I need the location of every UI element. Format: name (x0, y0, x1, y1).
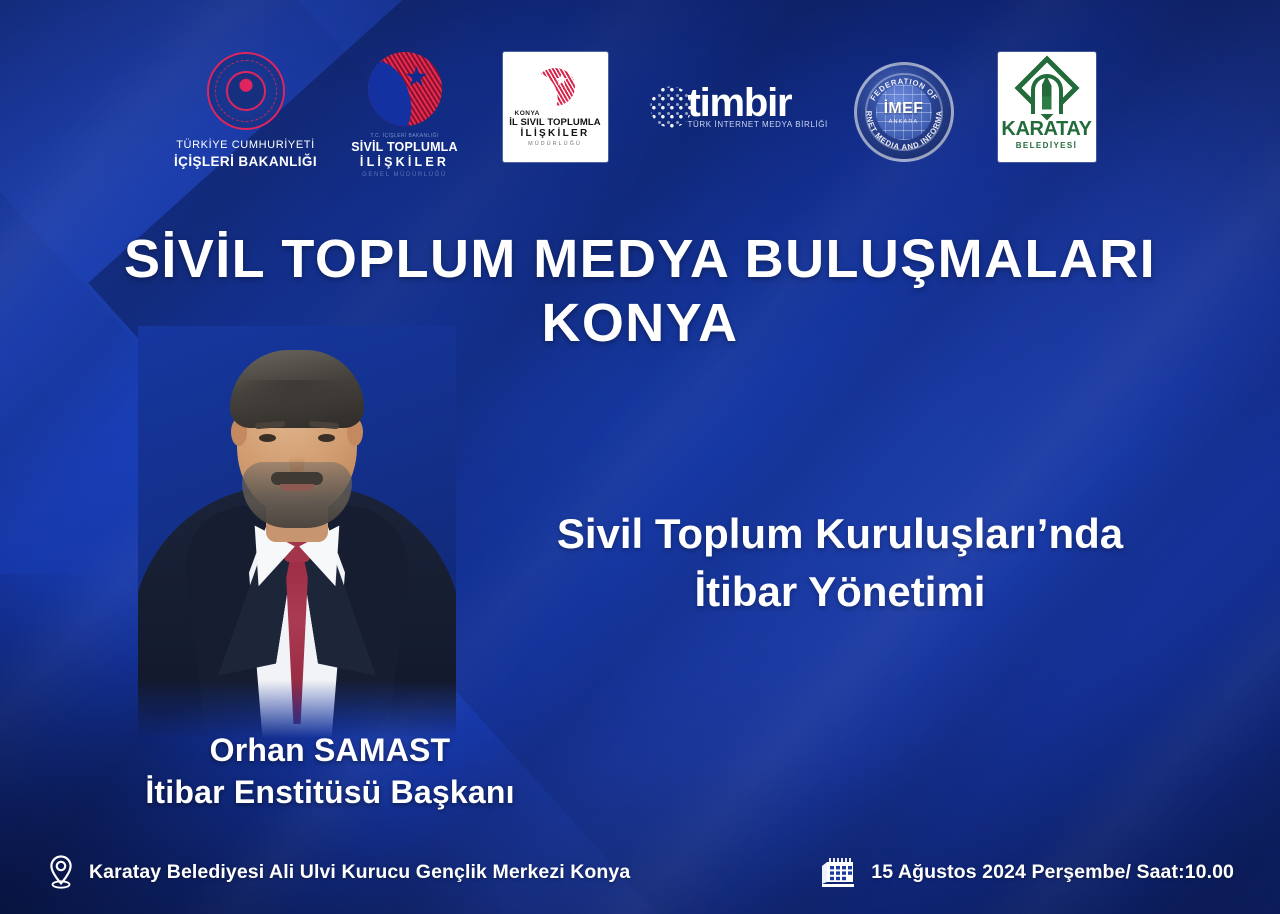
timbir-tagline: TÜRK İNTERNET MEDYA BİRLİĞİ (688, 120, 828, 129)
stk-logo-top-micro: T.C. İÇİŞLERİ BAKANLIĞI (370, 133, 438, 139)
poster-subtitle-line1: Sivil Toplum Kuruluşları’nda (470, 505, 1210, 563)
eye-left (259, 434, 276, 442)
poster-title-line1: SİVİL TOPLUM MEDYA BULUŞMALARI (0, 228, 1280, 292)
stk-logo-line3: GENEL MÜDÜRLÜĞÜ (362, 172, 447, 178)
imef-city: ANKARA (889, 119, 919, 125)
speaker-photo (138, 326, 456, 738)
date-text: 15 Ağustos 2024 Perşembe/ Saat:10.00 (871, 861, 1234, 884)
imef-globe-inner: İMEF ANKARA (876, 84, 932, 140)
konya-il-sivil-toplumla-iliskiler-logo: KONYA İL SIVIL TOPLUMLA İLİŞKİLER MÜDÜRL… (503, 52, 608, 162)
timbir-logo: timbir TÜRK İNTERNET MEDYA BİRLİĞİ (642, 52, 810, 136)
sponsor-logo-strip: TÜRKİYE CUMHURİYETİ İÇİŞLERİ BAKANLIĞI T… (0, 52, 1280, 178)
timbir-wordmark: timbir (688, 85, 828, 122)
konya-logo-line3: MÜDÜRLÜĞÜ (528, 141, 582, 147)
poster-title: SİVİL TOPLUM MEDYA BULUŞMALARI KONYA (0, 228, 1280, 355)
dotted-globe-icon (642, 78, 700, 136)
minaret-arch-emblem-icon (1018, 65, 1076, 117)
venue-info: Karatay Belediyesi Ali Ulvi Kurucu Gençl… (46, 854, 630, 890)
speaker-role: İtibar Enstitüsü Başkanı (50, 772, 610, 812)
mouth (280, 484, 314, 491)
turkish-state-seal-icon (207, 52, 285, 130)
eye-right (318, 434, 335, 442)
imef-wordmark: İMEF (884, 100, 924, 118)
konya-logo-city: KONYA (515, 110, 540, 117)
seal-crescent-shape (229, 89, 263, 101)
ministry-of-interior-logo: TÜRKİYE CUMHURİYETİ İÇİŞLERİ BAKANLIĞI (185, 52, 307, 169)
globe-seal-icon: FEDERATION OF INTERNET MEDIA AND INFORMA… (854, 62, 954, 162)
speaker-name: Orhan SAMAST (50, 730, 610, 770)
poster-subtitle: Sivil Toplum Kuruluşları’nda İtibar Yöne… (470, 505, 1210, 621)
konya-logo-line1: İL SIVIL TOPLUMLA (509, 117, 600, 128)
calendar-icon (818, 854, 858, 890)
karatay-belediyesi-logo: KARATAY BELEDİYESİ (998, 52, 1096, 162)
poster-subtitle-line2: İtibar Yönetimi (470, 563, 1210, 621)
karatay-logo-line2: BELEDİYESİ (1016, 141, 1078, 150)
crescent-star-swoosh-icon (535, 68, 575, 106)
sivil-toplumla-iliskiler-logo: T.C. İÇİŞLERİ BAKANLIĞI SİVİL TOPLUMLA İ… (341, 52, 469, 178)
star-shape (555, 74, 568, 87)
konya-logo-line2: İLİŞKİLER (520, 128, 589, 139)
poster-title-line2: KONYA (0, 292, 1280, 356)
event-poster: TÜRKİYE CUMHURİYETİ İÇİŞLERİ BAKANLIĞI T… (0, 0, 1280, 914)
karatay-logo-line1: KARATAY (1001, 119, 1091, 139)
venue-text: Karatay Belediyesi Ali Ulvi Kurucu Gençl… (89, 861, 630, 884)
speaker-info: Orhan SAMAST İtibar Enstitüsü Başkanı (50, 730, 610, 812)
date-info: 15 Ağustos 2024 Perşembe/ Saat:10.00 (818, 854, 1234, 890)
stk-logo-line2: İLİŞKİLER (360, 155, 449, 169)
imef-logo: FEDERATION OF INTERNET MEDIA AND INFORMA… (844, 52, 964, 162)
ministry-logo-line2: İÇİŞLERİ BAKANLIĞI (174, 154, 317, 169)
stk-logo-line1: SİVİL TOPLUMLA (351, 140, 458, 154)
poster-footer: Karatay Belediyesi Ali Ulvi Kurucu Gençl… (0, 854, 1280, 890)
ministry-logo-line1: TÜRKİYE CUMHURİYETİ (176, 139, 315, 151)
crescent-star-swoosh-icon (368, 52, 442, 126)
nose (290, 444, 305, 474)
star-shape (406, 66, 428, 88)
location-pin-icon (46, 854, 76, 890)
